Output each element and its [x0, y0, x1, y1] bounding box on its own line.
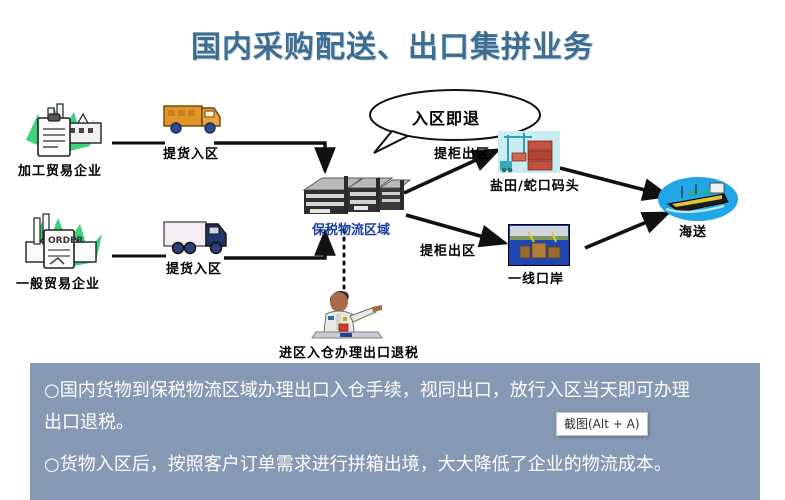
container-terminal-icon [498, 131, 560, 173]
callout-text: 入区即退 [412, 105, 480, 129]
note-line-1: ○国内货物到保税物流区域办理出口入仓手续，视同出口，放行入区当天即可办理 [44, 375, 746, 407]
orange-truck-icon [162, 100, 224, 138]
label-first-line-port: 一线口岸 [508, 268, 564, 287]
edge-port-to-sea [585, 213, 668, 248]
label-processing-enterprise: 加工贸易企业 [18, 160, 102, 179]
cargo-ship-icon [658, 174, 738, 224]
edge-zone-to-port [406, 215, 505, 243]
note-line-3: ○货物入区后，按照客户订单需求进行拼箱出境，大大降低了企业的物流成本。 [44, 449, 746, 481]
slide-canvas: 国内采购配送、出口集拼业务 [0, 0, 785, 500]
blue-truck-icon [162, 216, 232, 258]
edge-truck-top-to-zone [214, 143, 325, 171]
callout-tail [374, 131, 408, 153]
warehouse-icon [300, 168, 415, 218]
page-title: 国内采购配送、出口集拼业务 [0, 22, 785, 66]
screenshot-tooltip[interactable]: 截图(Alt + A) [556, 412, 648, 436]
label-general-enterprise: 一般贸易企业 [16, 273, 100, 292]
label-sea-freight: 海送 [679, 221, 707, 240]
notes-spacer [44, 439, 746, 449]
factory-order-icon: ORDER [18, 208, 116, 274]
edge-label-pickup-lower: 提柜出区 [420, 240, 476, 259]
factory-clipboard-icon [18, 98, 113, 160]
label-truck-top: 提货入区 [163, 143, 219, 162]
edge-label-pickup-upper: 提柜出区 [434, 143, 490, 162]
customs-officer-icon [310, 286, 388, 341]
label-bonded-zone: 保税物流区域 [312, 219, 390, 238]
svg-text:ORDER: ORDER [48, 236, 83, 246]
notes-panel: ○国内货物到保税物流区域办理出口入仓手续，视同出口，放行入区当天即可办理 出口退… [30, 363, 760, 500]
edge-truck-bottom-to-zone [224, 232, 325, 258]
label-customs-officer: 进区入仓办理出口退税 [279, 342, 419, 361]
label-container-terminal: 盐田/蛇口码头 [490, 175, 580, 194]
label-truck-bottom: 提货入区 [166, 258, 222, 277]
port-photo-icon [508, 224, 570, 266]
